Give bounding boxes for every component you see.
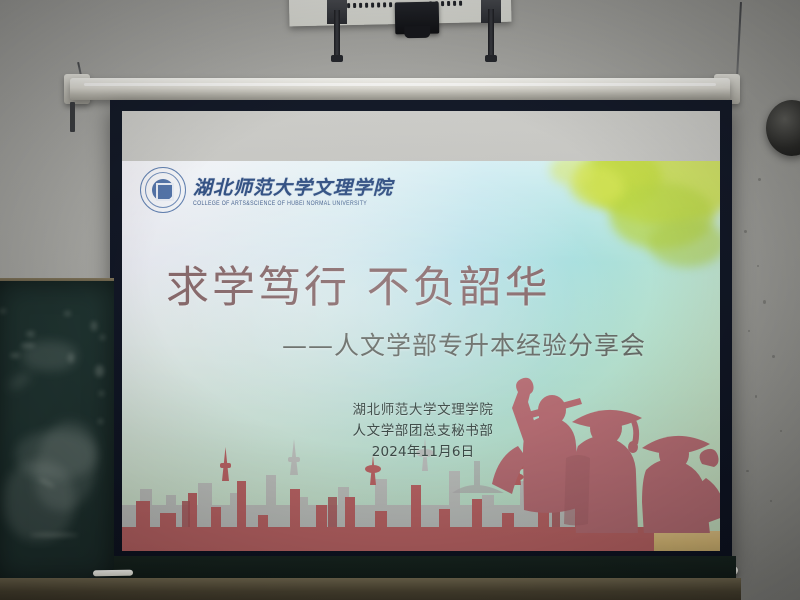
university-seal-icon — [140, 167, 186, 213]
logo-chinese-name: 湖北师范大学文理学院 — [193, 173, 393, 200]
credit-line-department: 人文学部团总支秘书部 — [308, 421, 538, 442]
wall-speck — [770, 500, 772, 502]
projector-drop-rod-right — [488, 9, 494, 57]
wall-speck — [780, 430, 782, 432]
projector-rod-cap-left — [331, 55, 343, 62]
screen-bracket-left — [70, 102, 75, 132]
screen-roller-case[interactable] — [70, 78, 730, 100]
screenshot-root: 湖北师范大学文理学院 COLLEGE OF ARTS&SCIENCE OF HU… — [0, 0, 800, 600]
slide-credits-block: 湖北师范大学文理学院 人文学部团总支秘书部 2024年11月6日 — [308, 400, 538, 463]
foliage-decoration — [648, 219, 720, 267]
wall-speck — [755, 395, 757, 398]
wall-speck — [763, 300, 766, 304]
logo-english-name: COLLEGE OF ARTS&SCIENCE OF HUBEI NORMAL … — [193, 201, 393, 208]
projected-slide: 湖北师范大学文理学院 COLLEGE OF ARTS&SCIENCE OF HU… — [122, 161, 720, 551]
wall-speck — [757, 265, 759, 267]
wall-speck — [748, 330, 750, 332]
slide-main-title: 求学笃行 不负韶华 — [166, 253, 551, 315]
projector-drop-rod-left — [334, 10, 340, 57]
credit-line-date: 2024年11月6日 — [308, 442, 538, 463]
projector-lens — [395, 2, 440, 35]
board-ledge — [0, 578, 741, 600]
chalk-stick-icon[interactable] — [93, 570, 133, 577]
projector-rod-cap-right — [485, 55, 497, 62]
chalkboard[interactable] — [0, 281, 114, 581]
wall-speck — [772, 355, 775, 358]
credit-line-organization: 湖北师范大学文理学院 — [308, 400, 538, 421]
wall-speck — [744, 230, 747, 233]
slide-subtitle: ——人文学部专升本经验分享会 — [282, 326, 646, 362]
projection-screen-surface[interactable]: 湖北师范大学文理学院 COLLEGE OF ARTS&SCIENCE OF HU… — [122, 111, 720, 551]
wall-speck — [746, 470, 749, 472]
university-logo: 湖北师范大学文理学院 COLLEGE OF ARTS&SCIENCE OF HU… — [140, 167, 393, 213]
wall-speck — [758, 178, 761, 181]
